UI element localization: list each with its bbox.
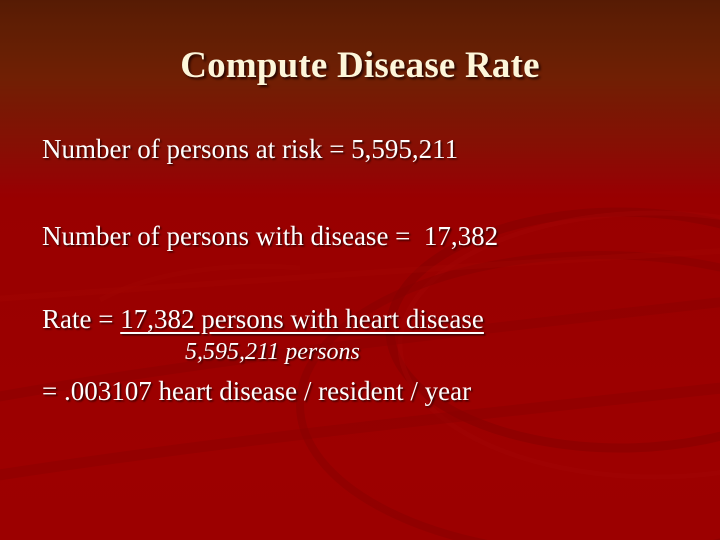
page-title: Compute Disease Rate [0,44,720,88]
line-rate-result: = .003107 heart disease / resident / yea… [42,374,682,408]
line-rate-fraction: Rate = 17,382 persons with heart disease [42,302,682,336]
rate-denominator: 5,595,211 persons [42,336,682,368]
slide-canvas: Compute Disease Rate Number of persons a… [0,0,720,540]
line-spacer-2 [42,253,682,302]
line-spacer-1 [42,166,682,219]
slide-body-content: Number of persons at risk = 5,595,211 Nu… [42,132,682,408]
rate-numerator: 17,382 persons with heart disease [120,304,484,334]
line-persons-at-risk: Number of persons at risk = 5,595,211 [42,132,682,166]
line-persons-with-disease: Number of persons with disease = 17,382 [42,219,682,253]
rate-label: Rate = [42,304,120,334]
